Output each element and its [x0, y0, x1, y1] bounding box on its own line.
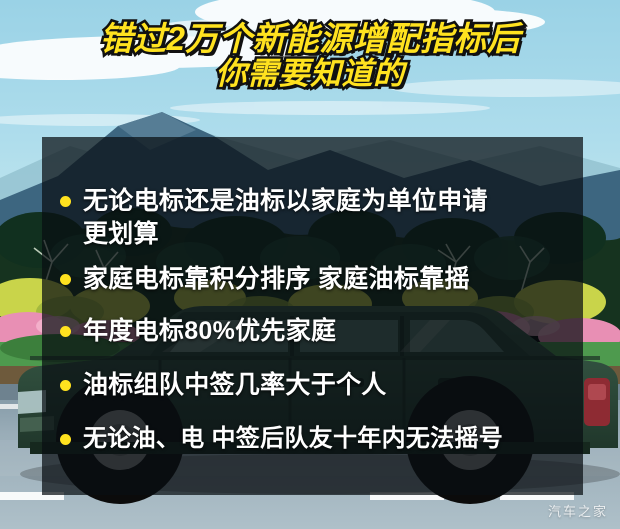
- list-item-text: 油标组队中签几率大于个人: [83, 369, 387, 402]
- bullet-dot-icon: [60, 196, 71, 207]
- list-item: 油标组队中签几率大于个人: [60, 369, 577, 402]
- list-item: 家庭电标靠积分排序 家庭油标靠摇: [60, 263, 577, 296]
- bullet-dot-icon: [60, 274, 71, 285]
- list-item: 年度电标80%优先家庭: [60, 315, 577, 348]
- watermark: 汽车之家: [548, 501, 608, 520]
- bullet-dot-icon: [60, 380, 71, 391]
- list-item-text: 年度电标80%优先家庭: [83, 315, 336, 348]
- list-item-text: 家庭电标靠积分排序 家庭油标靠摇: [83, 263, 470, 296]
- bullet-dot-icon: [60, 434, 71, 445]
- list-item: 无论油、电 中签后队友十年内无法摇号: [60, 423, 577, 455]
- list-item-text: 无论油、电 中签后队友十年内无法摇号: [83, 423, 503, 455]
- poster-image: 错过2万个新能源增配指标后 你需要知道的 无论电标还是油标以家庭为单位申请 更划…: [0, 0, 620, 529]
- list-item-text: 无论电标还是油标以家庭为单位申请 更划算: [83, 185, 488, 252]
- bullet-dot-icon: [60, 326, 71, 337]
- bullet-list: 无论电标还是油标以家庭为单位申请 更划算 家庭电标靠积分排序 家庭油标靠摇 年度…: [42, 137, 583, 495]
- list-item: 无论电标还是油标以家庭为单位申请 更划算: [60, 185, 577, 252]
